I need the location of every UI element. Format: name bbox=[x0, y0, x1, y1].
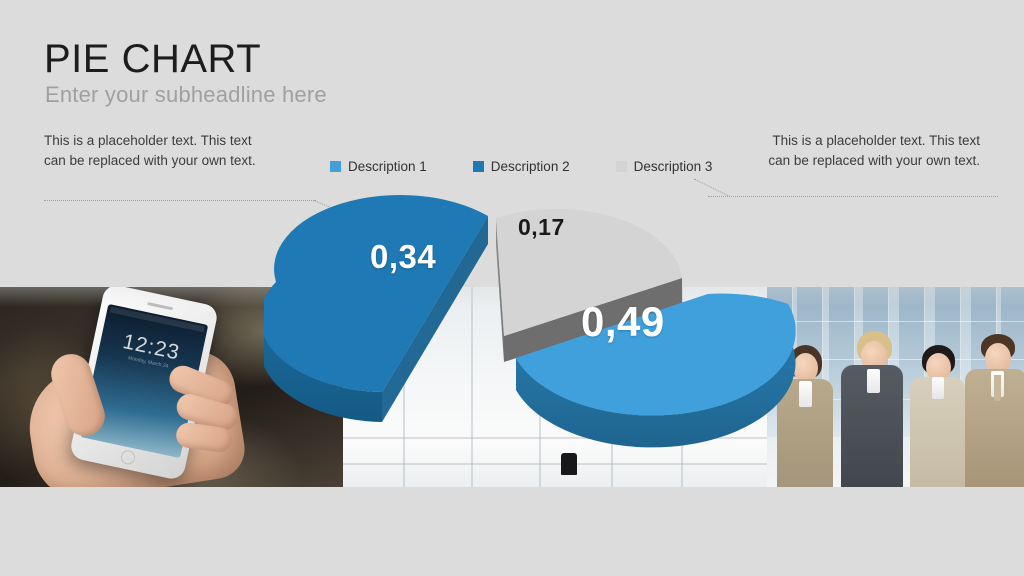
legend-item-description-1[interactable]: Description 1 bbox=[330, 160, 427, 174]
pie-label-description-3: 0,17 bbox=[518, 214, 565, 241]
legend-swatch-icon bbox=[473, 161, 484, 172]
page-subtitle: Enter your subheadline here bbox=[45, 82, 327, 108]
legend-label: Description 3 bbox=[634, 160, 713, 174]
legend-swatch-icon bbox=[330, 161, 341, 172]
phone-speaker-icon bbox=[147, 302, 173, 310]
page-title: PIE CHART bbox=[44, 38, 261, 80]
right-description-text: This is a placeholder text. This text ca… bbox=[748, 131, 980, 170]
pie-label-description-1: 0,49 bbox=[581, 298, 665, 346]
phone-statusbar bbox=[110, 306, 205, 332]
person-figure bbox=[965, 325, 1024, 487]
slide: PIE CHART Enter your subheadline here Th… bbox=[0, 0, 1024, 576]
legend-swatch-icon bbox=[616, 161, 627, 172]
legend-label: Description 1 bbox=[348, 160, 427, 174]
phone-home-button-icon bbox=[120, 449, 137, 466]
legend-item-description-3[interactable]: Description 3 bbox=[616, 160, 713, 174]
legend-label: Description 2 bbox=[491, 160, 570, 174]
chart-legend: Description 1 Description 2 Description … bbox=[330, 160, 712, 174]
photo-business-team bbox=[767, 287, 1024, 487]
pie-label-description-2: 0,34 bbox=[370, 238, 436, 276]
person-figure bbox=[839, 319, 905, 487]
pie-chart[interactable]: 0,34 0,49 0,17 bbox=[264, 186, 804, 486]
left-description-text: This is a placeholder text. This text ca… bbox=[44, 131, 276, 170]
legend-item-description-2[interactable]: Description 2 bbox=[473, 160, 570, 174]
person-figure bbox=[909, 335, 967, 487]
